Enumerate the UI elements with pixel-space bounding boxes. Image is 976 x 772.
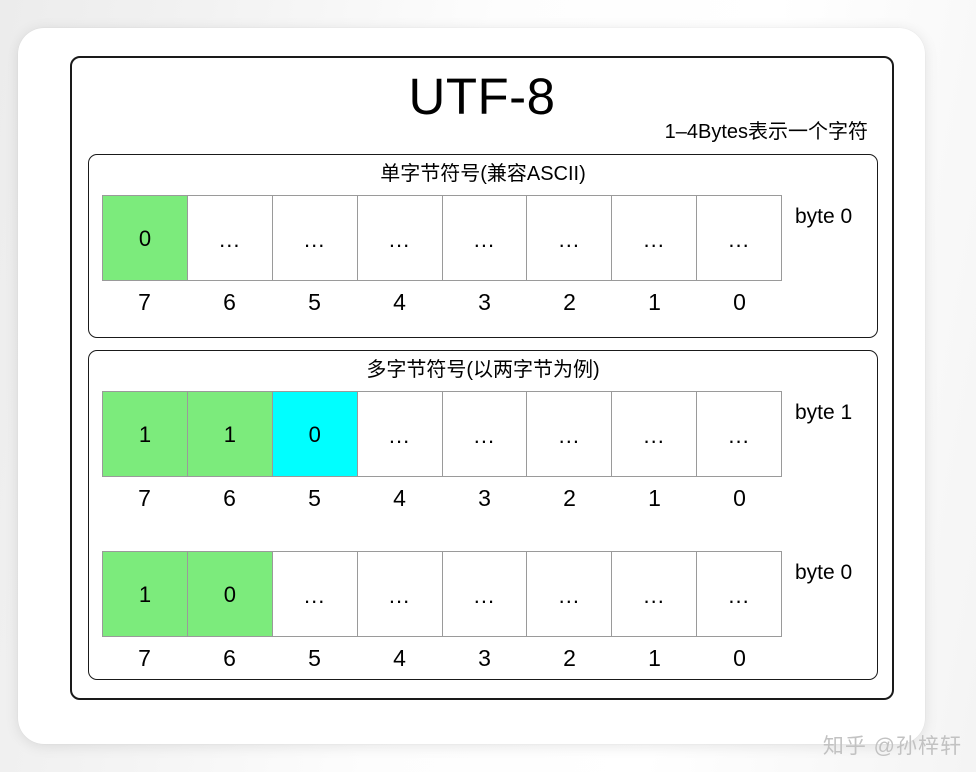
bit-cell-value: ... — [389, 585, 410, 607]
bit-index-label: 3 — [442, 637, 527, 679]
bit-cell-5: ... — [272, 551, 358, 637]
bit-cell-value: 1 — [224, 424, 236, 446]
bit-index-label: 3 — [442, 281, 527, 323]
bit-cell-value: 0 — [139, 228, 151, 250]
bit-cell-0: ... — [696, 551, 782, 637]
bit-index-label: 3 — [442, 477, 527, 519]
bit-index-label: 7 — [102, 637, 187, 679]
page-card: UTF-8 1–4Bytes表示一个字符 单字节符号(兼容ASCII) 0 ..… — [18, 28, 925, 744]
bit-index-label: 0 — [697, 281, 782, 323]
bit-cell-value: ... — [389, 229, 410, 251]
bit-cell-2: ... — [526, 551, 612, 637]
bit-cell-1: ... — [611, 551, 697, 637]
bit-cell-4: ... — [357, 391, 443, 477]
bit-cell-value: ... — [474, 425, 495, 447]
section-single-byte: 单字节符号(兼容ASCII) 0 ... ... ... ... ... ...… — [88, 154, 878, 338]
bit-cell-value: ... — [644, 425, 665, 447]
bit-cell-value: ... — [474, 229, 495, 251]
bit-index-label: 4 — [357, 281, 442, 323]
bit-cell-value: 1 — [139, 424, 151, 446]
bit-index-label: 1 — [612, 281, 697, 323]
bit-cell-value: ... — [474, 585, 495, 607]
byte-label: byte 0 — [795, 561, 852, 585]
bit-cell-5: 0 — [272, 391, 358, 477]
bit-cell-value: ... — [389, 425, 410, 447]
bit-cell-6: ... — [187, 195, 273, 281]
bit-index-labels: 7 6 5 4 3 2 1 0 — [102, 281, 782, 323]
bit-index-label: 2 — [527, 637, 612, 679]
bit-index-label: 2 — [527, 281, 612, 323]
bit-cell-3: ... — [442, 195, 528, 281]
bit-index-label: 2 — [527, 477, 612, 519]
bit-cell-6: 0 — [187, 551, 273, 637]
bit-cell-7: 1 — [102, 391, 188, 477]
bit-index-labels: 7 6 5 4 3 2 1 0 — [102, 637, 782, 679]
section-title: 多字节符号(以两字节为例) — [89, 359, 877, 381]
bit-cell-0: ... — [696, 195, 782, 281]
bit-cell-value: ... — [644, 229, 665, 251]
bit-cell-value: ... — [559, 425, 580, 447]
bit-cell-3: ... — [442, 391, 528, 477]
bit-cell-value: ... — [728, 585, 749, 607]
bit-cell-1: ... — [611, 195, 697, 281]
bit-index-label: 0 — [697, 477, 782, 519]
bit-cell-value: ... — [559, 585, 580, 607]
bit-cell-1: ... — [611, 391, 697, 477]
bit-cell-0: ... — [696, 391, 782, 477]
bit-index-label: 5 — [272, 477, 357, 519]
bit-cell-group: 1 1 0 ... ... ... ... ... — [102, 391, 782, 477]
bit-index-label: 5 — [272, 281, 357, 323]
section-multi-byte: 多字节符号(以两字节为例) 1 1 0 ... ... ... ... ... … — [88, 350, 878, 680]
bit-index-label: 4 — [357, 477, 442, 519]
title-subtitle: 1–4Bytes表示一个字符 — [665, 115, 868, 144]
bit-cell-value: ... — [304, 229, 325, 251]
bit-cell-value: ... — [304, 585, 325, 607]
bit-cell-value: ... — [559, 229, 580, 251]
bit-cell-7: 0 — [102, 195, 188, 281]
utf8-diagram-frame: UTF-8 1–4Bytes表示一个字符 单字节符号(兼容ASCII) 0 ..… — [70, 56, 894, 700]
bit-cell-value: 1 — [139, 584, 151, 606]
bit-cell-value: ... — [728, 425, 749, 447]
bit-cell-4: ... — [357, 195, 443, 281]
bit-index-label: 0 — [697, 637, 782, 679]
bit-index-label: 4 — [357, 637, 442, 679]
bit-cell-6: 1 — [187, 391, 273, 477]
byte-label: byte 0 — [795, 205, 852, 229]
bit-index-label: 1 — [612, 477, 697, 519]
bit-cell-4: ... — [357, 551, 443, 637]
bit-index-label: 1 — [612, 637, 697, 679]
bit-cell-group: 0 ... ... ... ... ... ... ... — [102, 195, 782, 281]
bit-cell-7: 1 — [102, 551, 188, 637]
diagram-header: UTF-8 1–4Bytes表示一个字符 — [72, 58, 892, 150]
bit-cell-value: 0 — [309, 424, 321, 446]
bit-cell-2: ... — [526, 195, 612, 281]
byte-label: byte 1 — [795, 401, 852, 425]
bit-cell-value: ... — [644, 585, 665, 607]
bit-cell-group: 1 0 ... ... ... ... ... ... — [102, 551, 782, 637]
bit-index-label: 6 — [187, 281, 272, 323]
bit-cell-5: ... — [272, 195, 358, 281]
bit-index-label: 7 — [102, 477, 187, 519]
bit-cell-2: ... — [526, 391, 612, 477]
section-title: 单字节符号(兼容ASCII) — [89, 163, 877, 185]
bit-index-labels: 7 6 5 4 3 2 1 0 — [102, 477, 782, 519]
bit-index-label: 6 — [187, 477, 272, 519]
bit-index-label: 6 — [187, 637, 272, 679]
bit-cell-value: 0 — [224, 584, 236, 606]
watermark: 知乎 @孙梓轩 — [823, 730, 962, 760]
bit-index-label: 5 — [272, 637, 357, 679]
bit-cell-value: ... — [728, 229, 749, 251]
bit-cell-value: ... — [219, 229, 240, 251]
bit-cell-3: ... — [442, 551, 528, 637]
bit-index-label: 7 — [102, 281, 187, 323]
